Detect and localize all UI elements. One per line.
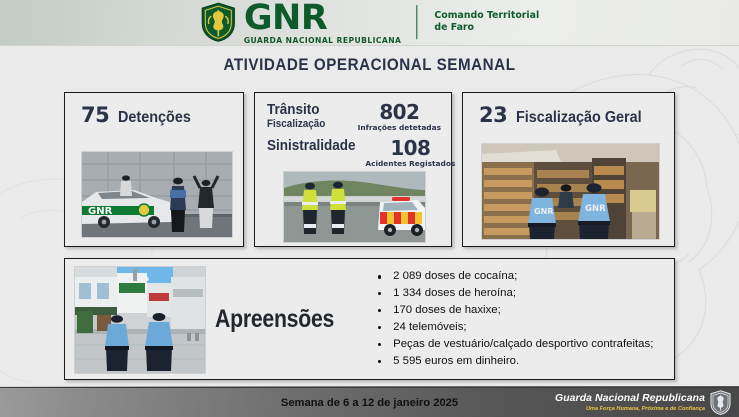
seizures-body: Apreensões 2 089 doses de cocaína; 1 334… xyxy=(65,259,674,379)
list-item: 5 595 euros em dinheiro. xyxy=(375,353,674,370)
list-item: 2 089 doses de cocaína; xyxy=(375,268,674,285)
seizures-photo xyxy=(74,266,206,374)
transito-labels: Trânsito Fiscalização xyxy=(267,102,332,130)
transito-count: 802 xyxy=(379,102,419,122)
header-command-line2: de Faro xyxy=(434,23,539,36)
footer-brand: Guarda Nacional Republicana Uma Força Hu… xyxy=(555,388,731,417)
svg-text:GNR: GNR xyxy=(585,204,606,214)
card-general-inspection: 23 Fiscalização Geral xyxy=(462,92,675,247)
sinistralidade-title: Sinistralidade xyxy=(267,138,356,154)
sinistralidade-caption: Acidentes Registados xyxy=(365,159,455,168)
footer-brand-text: Guarda Nacional Republicana Uma Força Hu… xyxy=(555,393,705,412)
detentions-headline: 75 Detenções xyxy=(65,93,243,127)
card-seizures: Apreensões 2 089 doses de cocaína; 1 334… xyxy=(64,258,675,380)
traffic-row-transito: Trânsito Fiscalização 802 Infrações dete… xyxy=(267,102,441,132)
transito-caption: Infrações detetadas xyxy=(358,123,441,132)
list-item: 170 doses de haxixe; xyxy=(375,302,674,319)
detentions-photo: GNR xyxy=(81,151,233,238)
sinistralidade-values: 108 Acidentes Registados xyxy=(365,138,455,168)
general-count: 23 xyxy=(479,103,507,127)
page-title: ATIVIDADE OPERACIONAL SEMANAL xyxy=(30,56,710,75)
traffic-row-sinistralidade: Sinistralidade 108 Acidentes Registados xyxy=(267,138,441,168)
list-item: Peças de vestuário/calçado desportivo co… xyxy=(375,336,674,353)
header-divider xyxy=(416,6,417,40)
detentions-count: 75 xyxy=(81,103,109,127)
slide: GNR GUARDA NACIONAL REPUBLICANA Comando … xyxy=(0,0,739,417)
header-logo-group: GNR GUARDA NACIONAL REPUBLICANA Comando … xyxy=(200,1,539,45)
footer-brand-tagline: Uma Força Humana, Próxima e de Confiança xyxy=(586,406,705,412)
svg-text:GNR: GNR xyxy=(534,207,553,216)
gnr-logotype: GNR GUARDA NACIONAL REPUBLICANA xyxy=(244,1,402,45)
footer-bar: Semana de 6 a 12 de janeiro 2025 Guarda … xyxy=(0,387,739,417)
sinistralidade-labels: Sinistralidade xyxy=(267,138,365,154)
transito-title: Trânsito xyxy=(267,102,325,118)
seizures-photo-wrap xyxy=(65,259,213,379)
traffic-photo xyxy=(283,171,426,243)
seizures-list: 2 089 doses de cocaína; 1 334 doses de h… xyxy=(355,268,674,369)
seizures-label: Apreensões xyxy=(215,305,334,334)
list-item: 1 334 doses de heroína; xyxy=(375,285,674,302)
transito-values: 802 Infrações detetadas xyxy=(358,102,441,132)
gnr-shield-icon xyxy=(710,390,731,415)
card-traffic: Trânsito Fiscalização 802 Infrações dete… xyxy=(254,92,452,247)
transito-subtitle: Fiscalização xyxy=(267,118,325,131)
header-bar: GNR GUARDA NACIONAL REPUBLICANA Comando … xyxy=(0,0,739,46)
traffic-stats: Trânsito Fiscalização 802 Infrações dete… xyxy=(255,93,451,168)
detentions-label: Detenções xyxy=(118,109,191,127)
header-command: Comando Territorial de Faro xyxy=(434,10,539,35)
sinistralidade-count: 108 xyxy=(390,138,430,158)
header-command-line1: Comando Territorial xyxy=(434,10,539,23)
gnr-subtitle: GUARDA NACIONAL REPUBLICANA xyxy=(244,37,402,45)
svg-text:GNR: GNR xyxy=(88,206,113,217)
card-detentions: 75 Detenções GNR xyxy=(64,92,244,247)
general-label: Fiscalização Geral xyxy=(516,109,642,127)
gnr-wordmark: GNR xyxy=(244,1,402,36)
footer-brand-name: Guarda Nacional Republicana xyxy=(555,393,705,404)
gnr-crest-icon xyxy=(200,3,236,43)
list-item: 24 telemóveis; xyxy=(375,319,674,336)
general-headline: 23 Fiscalização Geral xyxy=(463,93,674,127)
general-photo: GNR GNR xyxy=(481,143,660,240)
